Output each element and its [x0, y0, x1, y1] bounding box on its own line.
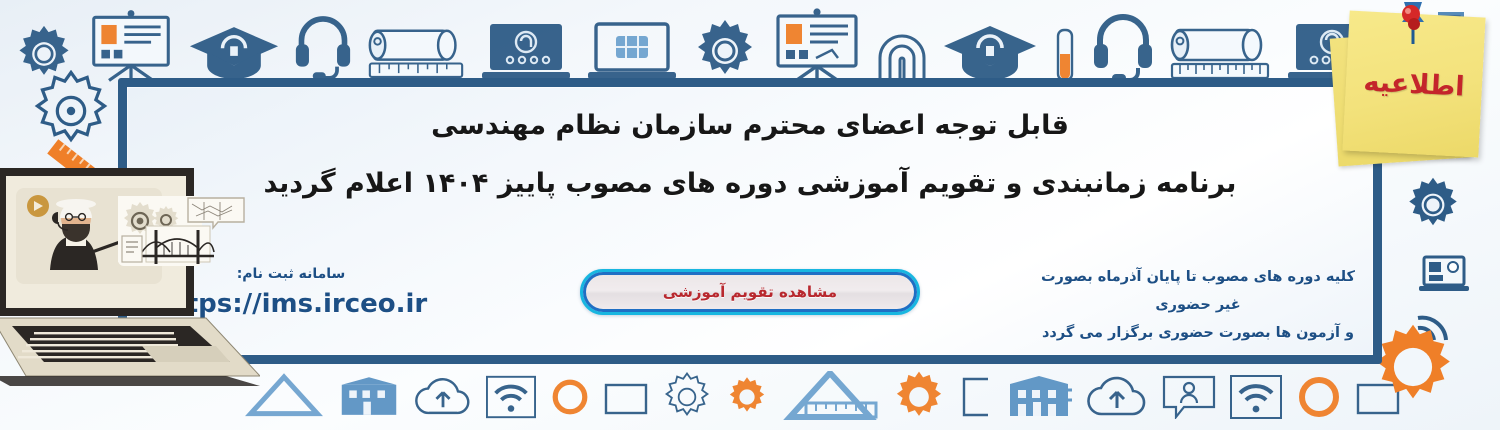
orange-ring-icon: [1296, 374, 1342, 420]
graduation-cap-icon: [942, 22, 1038, 84]
headline-line-1: قابل توجه اعضای محترم سازمان نظام مهندسی: [127, 109, 1373, 143]
wifi-icon: [1230, 375, 1282, 419]
gear-icon: [1404, 176, 1462, 234]
online-class-laptop-illustration: [0, 160, 260, 392]
orange-ring-icon: [550, 377, 590, 417]
graduation-cap-icon: [188, 22, 280, 84]
cta-container: مشاهده تقویم آموزشی: [580, 269, 920, 315]
schedule-info-line-1: کلیه دوره های مصوب تا پایان آذرماه بصورت…: [1033, 263, 1363, 319]
pushpin-icon: [1390, 0, 1436, 52]
building-icon: [1006, 376, 1072, 418]
headset-icon: [294, 10, 352, 84]
chat-person-icon: [1162, 375, 1216, 419]
view-training-calendar-button[interactable]: مشاهده تقویم آموزشی: [580, 269, 920, 315]
announcement-banner: قابل توجه اعضای محترم سازمان نظام مهندسی…: [0, 0, 1500, 430]
gear-outline-icon: [662, 372, 712, 422]
arch-icon: [876, 28, 928, 84]
test-tube-icon: [1052, 26, 1078, 84]
orange-gear-icon: [726, 376, 768, 418]
blueprint-roll-icon: [366, 18, 466, 84]
presentation-board-icon: [772, 8, 862, 84]
wifi-icon: [486, 375, 536, 419]
schedule-info: کلیه دوره های مصوب تا پایان آذرماه بصورت…: [1033, 263, 1363, 347]
page-title: قابل توجه اعضای محترم سازمان نظام مهندسی…: [127, 109, 1373, 201]
announcement-sticky-note: اطلاعیه: [1328, 0, 1498, 178]
headset-icon: [1092, 10, 1154, 84]
headline-line-2: برنامه زمانبندی و تقویم آموزشی دوره های …: [127, 167, 1373, 201]
orange-gear-icon: [892, 370, 946, 424]
bracket-icon: [960, 377, 992, 417]
triangle-ruler-icon: [782, 371, 878, 423]
gear-icon: [692, 18, 758, 84]
laptop-screen-icon: [586, 20, 678, 84]
cta-label: مشاهده تقویم آموزشی: [663, 283, 837, 301]
laptop-webinar-icon: [480, 20, 572, 84]
schedule-info-line-2: و آزمون ها بصورت حضوری برگزار می گردد: [1033, 319, 1363, 347]
laptop-icon: [1418, 255, 1470, 295]
cloud-upload-icon: [1086, 376, 1148, 418]
building-icon: [338, 376, 400, 418]
blueprint-roll-icon: [1168, 18, 1272, 84]
cta-inner-ring: مشاهده تقویم آموزشی: [583, 272, 917, 312]
content-frame: قابل توجه اعضای محترم سازمان نظام مهندسی…: [118, 78, 1382, 364]
frame-icon: [604, 379, 648, 415]
cloud-upload-icon: [414, 376, 472, 418]
top-icon-strip: [0, 0, 1500, 88]
